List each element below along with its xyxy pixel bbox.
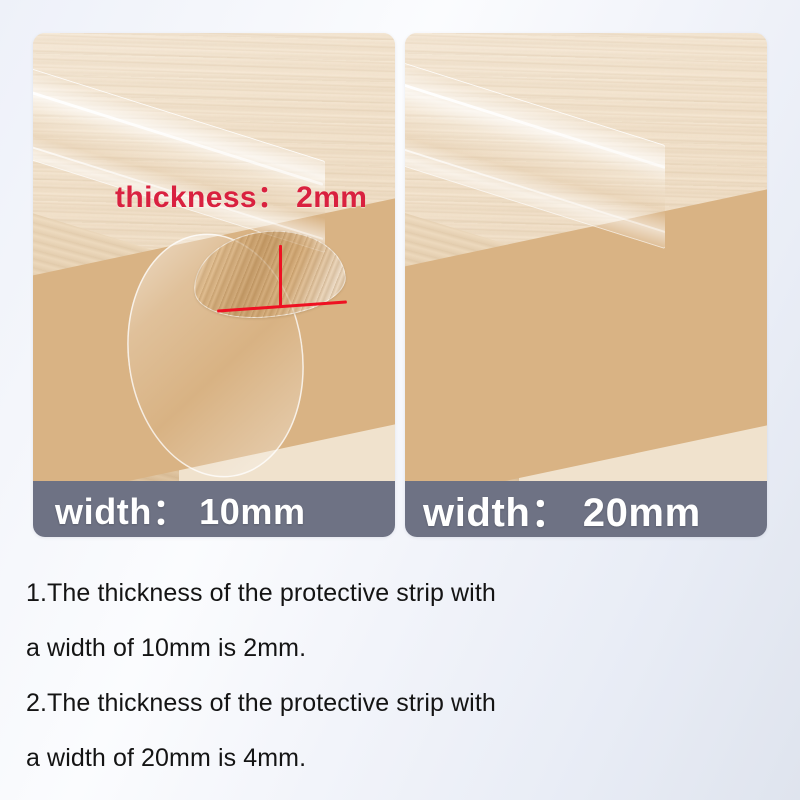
description-line-3: 2.The thickness of the protective strip … — [26, 676, 766, 731]
thickness-label-10mm: thickness： 2mm — [115, 172, 367, 216]
product-panel-10mm: thickness： 2mm width： 10mm — [33, 33, 395, 537]
measure-line-vertical — [279, 245, 282, 307]
description-line-1: 1.The thickness of the protective strip … — [26, 566, 766, 621]
product-photo-10mm: thickness： 2mm — [33, 33, 395, 481]
description-block: 1.The thickness of the protective strip … — [26, 566, 766, 786]
product-panel-20mm: thickness： 4mm width： 20mm — [405, 33, 767, 537]
product-photo-20mm: thickness： 4mm — [405, 33, 767, 481]
width-badge-20mm: width： 20mm — [405, 481, 767, 537]
width-badge-10mm: width： 10mm — [33, 481, 395, 537]
description-line-2: a width of 10mm is 2mm. — [26, 621, 766, 676]
description-line-4: a width of 20mm is 4mm. — [26, 731, 766, 786]
width-badge-text: width： 10mm — [33, 483, 306, 535]
cut-end-wood-grain — [189, 223, 349, 324]
infographic-canvas: thickness： 2mm width： 10mm thickness： 4m… — [0, 0, 800, 800]
width-badge-text: width： 20mm — [405, 480, 701, 537]
strip-cut-end-cross-section — [189, 223, 349, 324]
